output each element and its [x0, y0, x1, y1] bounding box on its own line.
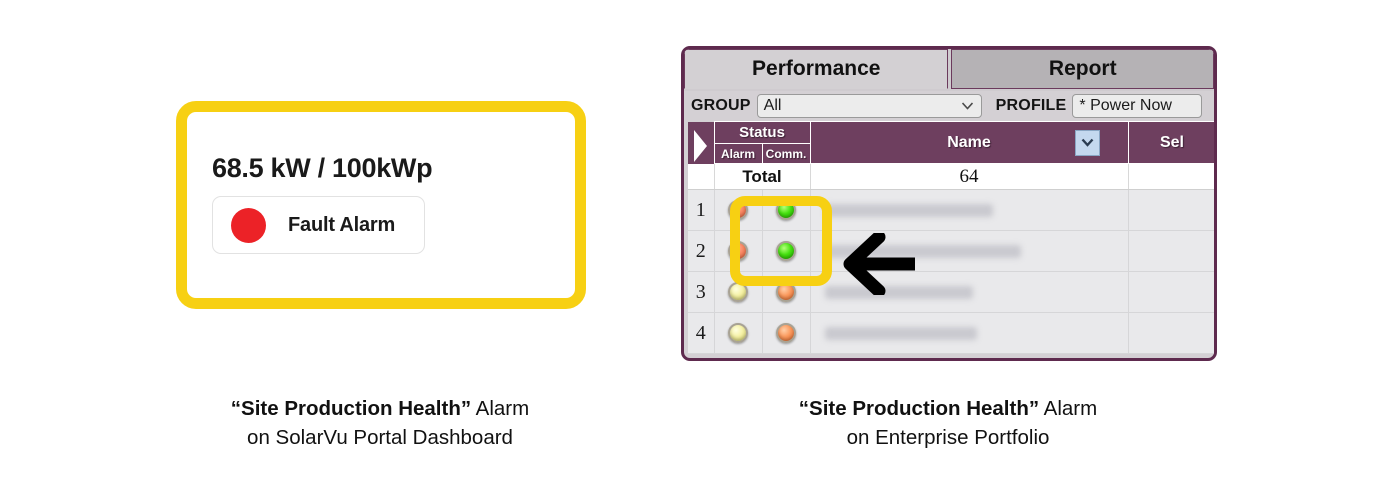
profile-select[interactable]: * Power Now	[1072, 94, 1202, 118]
alarm-led-cell[interactable]	[714, 272, 762, 313]
profile-label: PROFILE	[996, 97, 1067, 115]
portfolio-table: Status Name Sel Alarm Comm.	[688, 121, 1217, 354]
site-name-redacted	[825, 286, 973, 299]
alarm-led-icon	[728, 282, 748, 302]
sel-cell[interactable]	[1128, 272, 1216, 313]
comm-led-cell[interactable]	[762, 313, 810, 354]
caption-right-quoted: “Site Production Health”	[799, 397, 1039, 420]
row-index: 2	[688, 231, 714, 272]
tab-report[interactable]: Report	[951, 49, 1214, 89]
portfolio-panel: Performance Report GROUP All PROFILE * P…	[681, 46, 1217, 361]
name-column-label: Name	[947, 134, 991, 151]
chevron-down-icon	[962, 103, 973, 110]
comm-led-cell[interactable]	[762, 272, 810, 313]
site-name-cell[interactable]	[810, 313, 1128, 354]
name-column-header[interactable]: Name	[810, 122, 1128, 164]
site-name-cell[interactable]	[810, 231, 1128, 272]
alarm-led-icon	[728, 241, 748, 261]
caption-right-line2: on Enterprise Portfolio	[847, 426, 1050, 449]
sel-cell[interactable]	[1128, 231, 1216, 272]
comm-column-header: Comm.	[762, 144, 810, 164]
caption-left-quoted: “Site Production Health”	[231, 397, 471, 420]
total-label: Total	[714, 164, 810, 190]
sel-column-header[interactable]: Sel	[1128, 122, 1216, 164]
comm-led-cell[interactable]	[762, 190, 810, 231]
table-row[interactable]: 4	[688, 313, 1216, 354]
table-row[interactable]: 2	[688, 231, 1216, 272]
solarvu-dashboard-figure: 68.5 kW / 100kWp Fault Alarm	[176, 101, 586, 309]
table-header-row-1: Status Name Sel	[688, 122, 1216, 144]
row-index: 4	[688, 313, 714, 354]
name-filter-chevron-down-icon[interactable]	[1075, 130, 1100, 156]
site-name-redacted	[825, 204, 993, 217]
caption-left: “Site Production Health” Alarm on SolarV…	[130, 394, 630, 452]
caption-left-line2: on SolarVu Portal Dashboard	[247, 426, 513, 449]
profile-select-value: * Power Now	[1073, 97, 1171, 115]
tab-strip: Performance Report	[684, 49, 1214, 91]
alarm-led-icon	[728, 323, 748, 343]
fault-alarm-button[interactable]: Fault Alarm	[212, 196, 425, 254]
comm-led-icon	[776, 241, 796, 261]
alarm-led-cell[interactable]	[714, 231, 762, 272]
group-label: GROUP	[691, 97, 751, 115]
table-row[interactable]: 3	[688, 272, 1216, 313]
alarm-status-led-icon	[231, 208, 266, 243]
status-column-header: Status	[714, 122, 810, 144]
sel-cell[interactable]	[1128, 190, 1216, 231]
group-select[interactable]: All	[757, 94, 982, 118]
site-name-redacted	[825, 327, 977, 340]
alarm-led-icon	[728, 200, 748, 220]
site-name-cell[interactable]	[810, 190, 1128, 231]
alarm-column-header: Alarm	[714, 144, 762, 164]
row-index: 1	[688, 190, 714, 231]
filter-bar: GROUP All PROFILE * Power Now	[684, 91, 1214, 121]
comm-led-icon	[776, 200, 796, 220]
row-index: 3	[688, 272, 714, 313]
tab-performance[interactable]: Performance	[684, 49, 948, 89]
table-total-row: Total 64	[688, 164, 1216, 190]
sel-cell[interactable]	[1128, 313, 1216, 354]
site-name-redacted	[825, 245, 1021, 258]
enterprise-portfolio-figure: Performance Report GROUP All PROFILE * P…	[681, 46, 1217, 361]
alarm-led-cell[interactable]	[714, 313, 762, 354]
alarm-led-cell[interactable]	[714, 190, 762, 231]
comm-led-cell[interactable]	[762, 231, 810, 272]
expand-arrow-icon[interactable]	[688, 122, 714, 164]
comm-led-icon	[776, 323, 796, 343]
power-readout: 68.5 kW / 100kWp	[212, 153, 432, 184]
caption-right: “Site Production Health” Alarm on Enterp…	[698, 394, 1198, 452]
site-name-cell[interactable]	[810, 272, 1128, 313]
fault-alarm-label: Fault Alarm	[288, 214, 395, 237]
group-select-value: All	[758, 97, 782, 115]
caption-right-suffix: Alarm	[1039, 397, 1097, 420]
table-row[interactable]: 1	[688, 190, 1216, 231]
total-count: 64	[810, 164, 1128, 190]
caption-left-suffix: Alarm	[471, 397, 529, 420]
comm-led-icon	[776, 282, 796, 302]
